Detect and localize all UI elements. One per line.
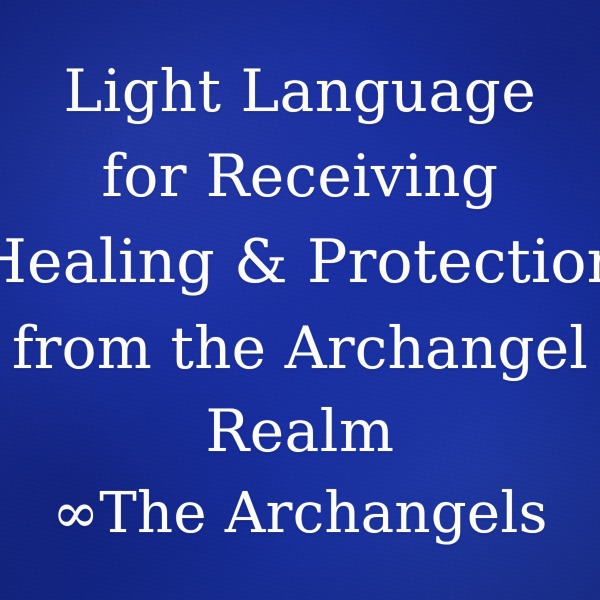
quote-text-block: Light Language for Receiving Healing & P…: [0, 0, 600, 600]
quote-attribution-line: ∞The Archangels: [52, 486, 547, 542]
quote-line-5: Realm: [205, 402, 394, 460]
quote-line-4: from the Archangel: [12, 319, 588, 377]
quote-line-2: for Receiving: [102, 147, 499, 205]
quote-card: Light Language for Receiving Healing & P…: [0, 0, 600, 600]
quote-line-3: Healing & Protection: [0, 232, 600, 292]
quote-line-1: Light Language: [64, 62, 537, 120]
